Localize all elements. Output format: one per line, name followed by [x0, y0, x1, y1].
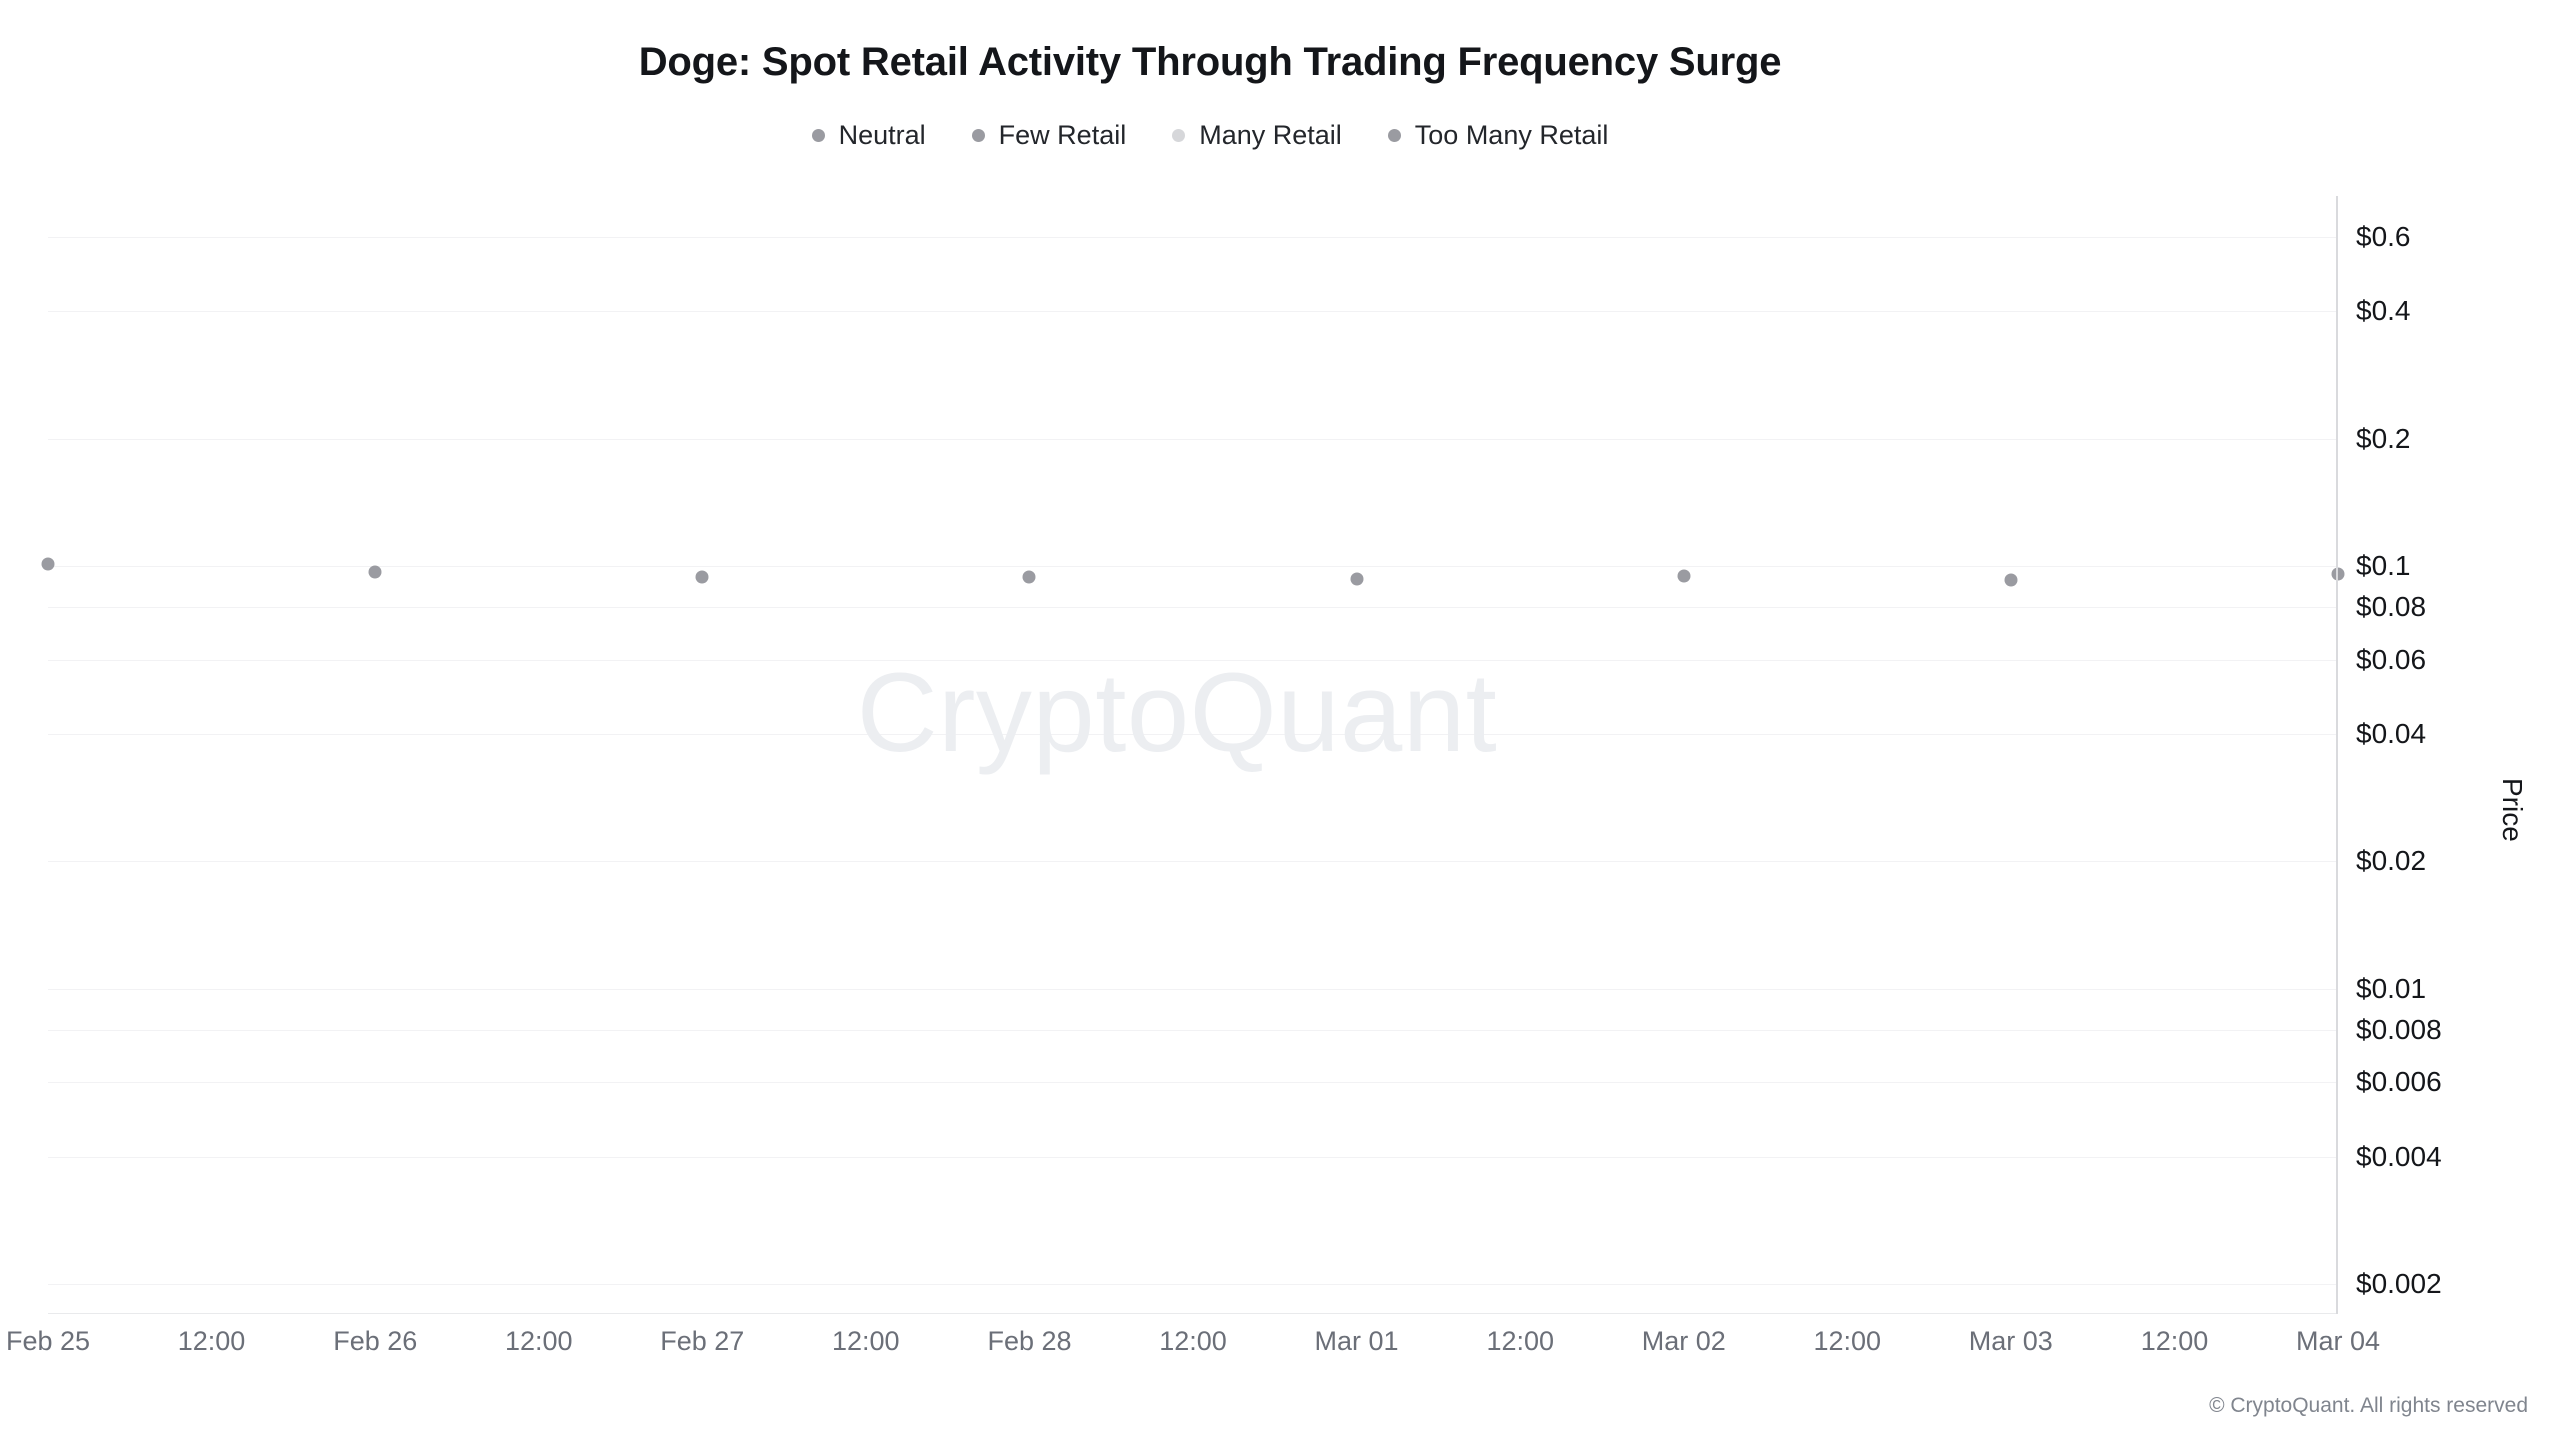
data-point[interactable]: [1677, 570, 1690, 583]
x-axis-tick-label: Feb 25: [6, 1326, 90, 1357]
x-axis-tick-label: 12:00: [505, 1326, 573, 1357]
x-axis-ticks: Feb 2512:00Feb 2612:00Feb 2712:00Feb 281…: [48, 1326, 2338, 1366]
gridline: [48, 439, 2338, 440]
data-point[interactable]: [696, 571, 709, 584]
gridline: [48, 311, 2338, 312]
x-axis-line: [48, 1313, 2338, 1314]
legend-item-label: Many Retail: [1199, 120, 1342, 151]
y-axis-tick-label: $0.6: [2356, 221, 2411, 253]
gridline: [48, 607, 2338, 608]
gridline: [48, 1284, 2338, 1285]
y-axis-tick-label: $0.002: [2356, 1268, 2442, 1300]
legend-item-label: Too Many Retail: [1415, 120, 1609, 151]
x-axis-tick-label: 12:00: [178, 1326, 246, 1357]
y-axis-tick-label: $0.004: [2356, 1141, 2442, 1173]
gridline: [48, 1082, 2338, 1083]
gridline: [48, 566, 2338, 567]
y-axis-tick-label: $0.2: [2356, 423, 2411, 455]
y-axis-tick-label: $0.006: [2356, 1066, 2442, 1098]
data-point[interactable]: [42, 558, 55, 571]
gridline: [48, 989, 2338, 990]
legend-item-neutral[interactable]: Neutral: [812, 120, 926, 151]
gridline: [48, 660, 2338, 661]
gridline: [48, 734, 2338, 735]
data-point[interactable]: [369, 566, 382, 579]
y-axis-title: Price: [2496, 196, 2528, 1314]
data-point[interactable]: [1023, 570, 1036, 583]
legend-marker-icon: [1388, 129, 1401, 142]
y-axis-tick-label: $0.01: [2356, 973, 2426, 1005]
gridline: [48, 237, 2338, 238]
chart-legend: NeutralFew RetailMany RetailToo Many Ret…: [0, 120, 2420, 151]
x-axis-tick-label: 12:00: [1813, 1326, 1881, 1357]
y-axis-title-label: Price: [2496, 778, 2528, 842]
legend-marker-icon: [812, 129, 825, 142]
gridline: [48, 861, 2338, 862]
data-point[interactable]: [2332, 567, 2345, 580]
y-axis-tick-label: $0.008: [2356, 1014, 2442, 1046]
x-axis-tick-label: 12:00: [2141, 1326, 2209, 1357]
legend-item-label: Few Retail: [999, 120, 1127, 151]
x-axis-tick-label: Feb 27: [660, 1326, 744, 1357]
legend-item-many-retail[interactable]: Many Retail: [1172, 120, 1342, 151]
watermark-text: CryptoQuant: [857, 648, 1497, 777]
legend-item-label: Neutral: [839, 120, 926, 151]
y-axis-tick-label: $0.08: [2356, 591, 2426, 623]
gridline: [48, 1030, 2338, 1031]
chart-container: Doge: Spot Retail Activity Through Tradi…: [0, 0, 2560, 1440]
x-axis-tick-label: Feb 28: [987, 1326, 1071, 1357]
y-axis-line: [2336, 196, 2338, 1314]
x-axis-tick-label: 12:00: [1486, 1326, 1554, 1357]
x-axis-tick-label: 12:00: [1159, 1326, 1227, 1357]
data-point[interactable]: [2004, 574, 2017, 587]
y-axis-tick-label: $0.1: [2356, 550, 2411, 582]
legend-item-few-retail[interactable]: Few Retail: [972, 120, 1127, 151]
x-axis-tick-label: Mar 04: [2296, 1326, 2380, 1357]
copyright-footer: © CryptoQuant. All rights reserved: [2209, 1394, 2528, 1418]
y-axis-tick-label: $0.06: [2356, 644, 2426, 676]
x-axis-tick-label: Mar 02: [1642, 1326, 1726, 1357]
chart-title: Doge: Spot Retail Activity Through Tradi…: [0, 40, 2420, 85]
data-point[interactable]: [1350, 572, 1363, 585]
legend-marker-icon: [1172, 129, 1185, 142]
gridline: [48, 1157, 2338, 1158]
x-axis-tick-label: 12:00: [832, 1326, 900, 1357]
legend-marker-icon: [972, 129, 985, 142]
y-axis-tick-label: $0.02: [2356, 845, 2426, 877]
watermark: CryptoQuant: [48, 196, 2338, 1314]
x-axis-tick-label: Feb 26: [333, 1326, 417, 1357]
x-axis-tick-label: Mar 03: [1969, 1326, 2053, 1357]
y-axis-tick-label: $0.4: [2356, 295, 2411, 327]
plot-area[interactable]: CryptoQuant: [48, 196, 2338, 1314]
y-axis-tick-label: $0.04: [2356, 718, 2426, 750]
legend-item-too-many-retail[interactable]: Too Many Retail: [1388, 120, 1609, 151]
x-axis-tick-label: Mar 01: [1314, 1326, 1398, 1357]
